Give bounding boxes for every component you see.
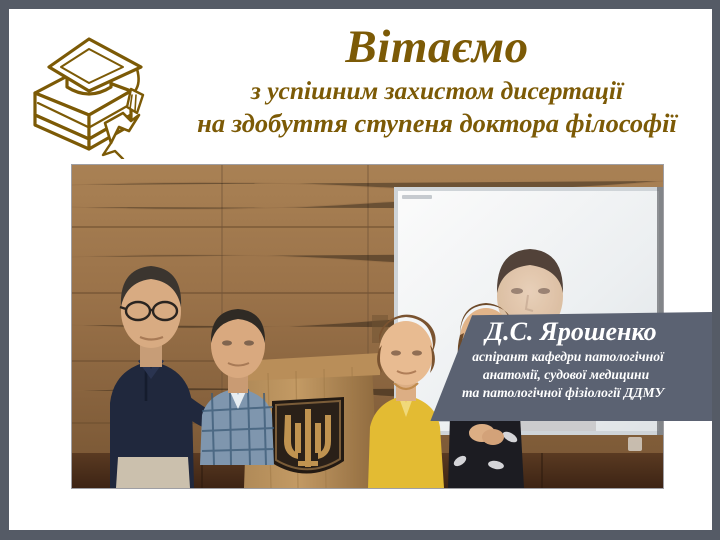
slide-page: Вітаємо з успішним захистом дисертації н…	[9, 9, 712, 530]
presenter-role-line-1: аспірант кафедри патологічної	[414, 348, 712, 366]
congratulation-slide: Вітаємо з успішним захистом дисертації н…	[0, 0, 720, 540]
graduation-cap-and-book-icon	[19, 31, 159, 159]
subtitle-line-1: з успішним захистом дисертації	[159, 75, 712, 107]
subtitle-line-2: на здобуття ступеня доктора філософії	[159, 107, 712, 140]
presenter-role-line-2: анатомії, судової медицини	[414, 366, 712, 384]
heading-block: Вітаємо з успішним захистом дисертації н…	[159, 23, 712, 141]
presenter-role-line-3: та патологічної фізіології ДДМУ	[414, 384, 712, 402]
page-title: Вітаємо	[159, 23, 712, 72]
